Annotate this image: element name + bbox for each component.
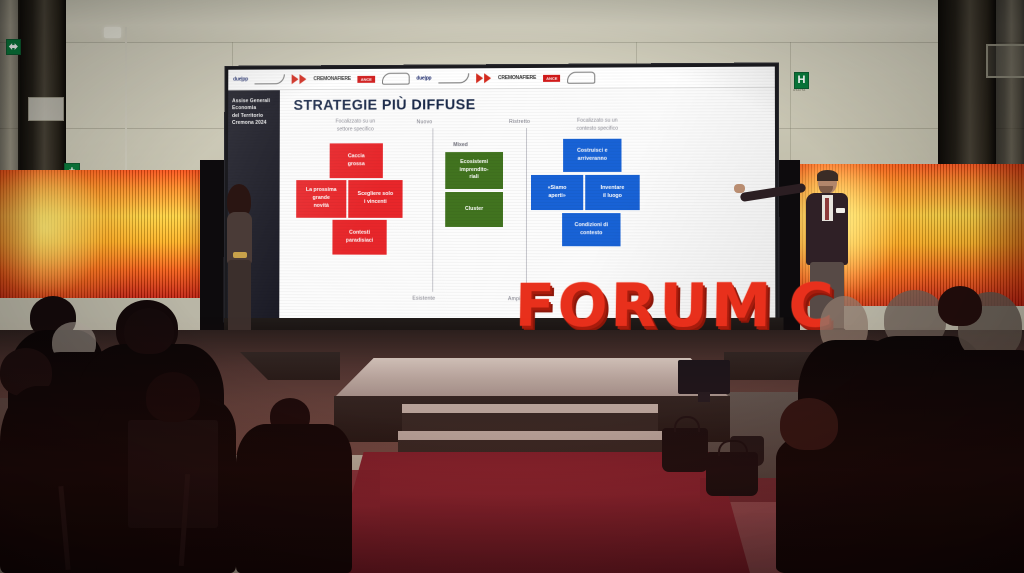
audience-body-c1 <box>236 424 352 573</box>
floor-bag-handle-1 <box>674 416 700 432</box>
box-condizioni-di-contesto: Condizioni di contesto <box>562 213 620 246</box>
group-label-right: Focalizzato su un contesto specifico <box>549 118 646 134</box>
man-hand <box>734 184 745 193</box>
ceiling-lamp <box>104 27 121 38</box>
truss-rig-right <box>986 44 1024 78</box>
venue-pillar-far-left <box>0 0 20 180</box>
axis-divider-1 <box>432 128 433 292</box>
stage-step-lower-tread <box>398 431 662 440</box>
box-cluster: Cluster <box>445 192 503 227</box>
audience-head-l5 <box>124 308 174 354</box>
box-prossima-grande-novita: La prossima grande novità <box>296 180 346 218</box>
logo-redblock-2: ANCE <box>543 72 560 83</box>
axis-label-ristretto: Ristretto <box>509 119 530 125</box>
ceiling-seam <box>0 42 1024 43</box>
forum-stage-letters: F O R U M C <box>515 283 833 331</box>
woman-held-object <box>233 252 247 258</box>
stage-step-upper-riser <box>402 413 658 431</box>
letter-f: F <box>515 283 555 329</box>
logo-car-2 <box>568 72 596 83</box>
stage-backdrop-left <box>0 170 226 298</box>
letter-u: U <box>659 283 707 330</box>
logo-cremonafiere-2: CREMONAFIERE <box>498 72 536 83</box>
sponsor-logo-bar: due|pp CREMONAFIERE ANCE due|pp CREMONAF… <box>228 67 775 91</box>
logo-arrows-2 <box>476 73 491 84</box>
box-costruisci-arriveranno: Costruisci e arriveranno <box>563 139 621 172</box>
stage-platform-top <box>334 358 730 398</box>
exit-sign-label: USCITA <box>793 88 806 92</box>
logo-cremonafiere-1: CREMONAFIERE <box>313 73 351 84</box>
floor-bag-3 <box>730 436 764 466</box>
axis-divider-2 <box>526 128 527 292</box>
group-label-left: Focalizzato su un settore specifico <box>311 118 400 134</box>
man-hair <box>817 170 838 181</box>
logo-swoosh-1 <box>255 74 285 85</box>
floor-bag-1 <box>662 428 708 472</box>
man-pocket-square <box>836 208 845 213</box>
audience-head-r5 <box>780 398 838 450</box>
man-tie <box>825 198 829 220</box>
box-caccia-grossa: Caccia grossa <box>330 143 383 178</box>
letter-o: O <box>557 283 607 330</box>
exit-sign-top-left: ⬌ <box>6 39 21 55</box>
audience-head-r4 <box>938 286 982 326</box>
firstaid-sign-right: H <box>794 72 809 89</box>
conference-photo-scene: ⬌ ⬌ + H USCITA due|pp CREMONAFIERE ANCE … <box>0 0 1024 573</box>
audience-chair-left <box>128 420 218 528</box>
logo-redblock-1: ANCE <box>358 73 375 84</box>
stage-monitor-stand <box>698 392 710 402</box>
axis-label-esistente: Esistente <box>412 296 435 302</box>
exit-glyph: ⬌ <box>9 42 18 53</box>
logo-arrows-1 <box>292 74 307 85</box>
venue-ceiling <box>0 0 1024 42</box>
audience-head-c2 <box>146 372 200 422</box>
box-ecosistemi-imprenditoriali: Ecosistemi imprendito- riali <box>445 152 503 189</box>
slide-title: STRATEGIE PIÙ DIFFUSE <box>294 96 767 114</box>
box-contesti-paradisiaci: Contesti paradisiaci <box>332 220 386 255</box>
logo-car-1 <box>382 73 410 84</box>
box-inventare-il-luogo: Inventare il luogo <box>585 175 640 210</box>
lamp-pole <box>125 27 127 177</box>
stage-step-upper-tread <box>402 404 658 413</box>
letter-m: M <box>711 283 771 330</box>
hospital-h-icon: H <box>798 75 806 86</box>
axis-label-nuovo: Nuovo <box>417 119 433 125</box>
group-label-mixed: Mixed <box>453 142 468 148</box>
wall-bracket-left <box>28 97 64 121</box>
box-scegliere-solo-vincenti: Scegliere solo i vincenti <box>348 180 402 218</box>
audience-body-r4-front-row <box>776 430 1024 573</box>
letter-r: R <box>610 283 656 330</box>
venue-pillar-right <box>938 0 996 180</box>
logo-duepp-2: due|pp <box>416 73 431 84</box>
logo-duepp-1: due|pp <box>233 74 248 85</box>
slide-sidebar-text: Assise Generali Economia del Territorio … <box>232 98 270 127</box>
box-siamo-aperti: «Siamo aperti» <box>531 175 583 210</box>
logo-swoosh-2 <box>438 73 469 84</box>
stage-monitor <box>678 360 730 394</box>
